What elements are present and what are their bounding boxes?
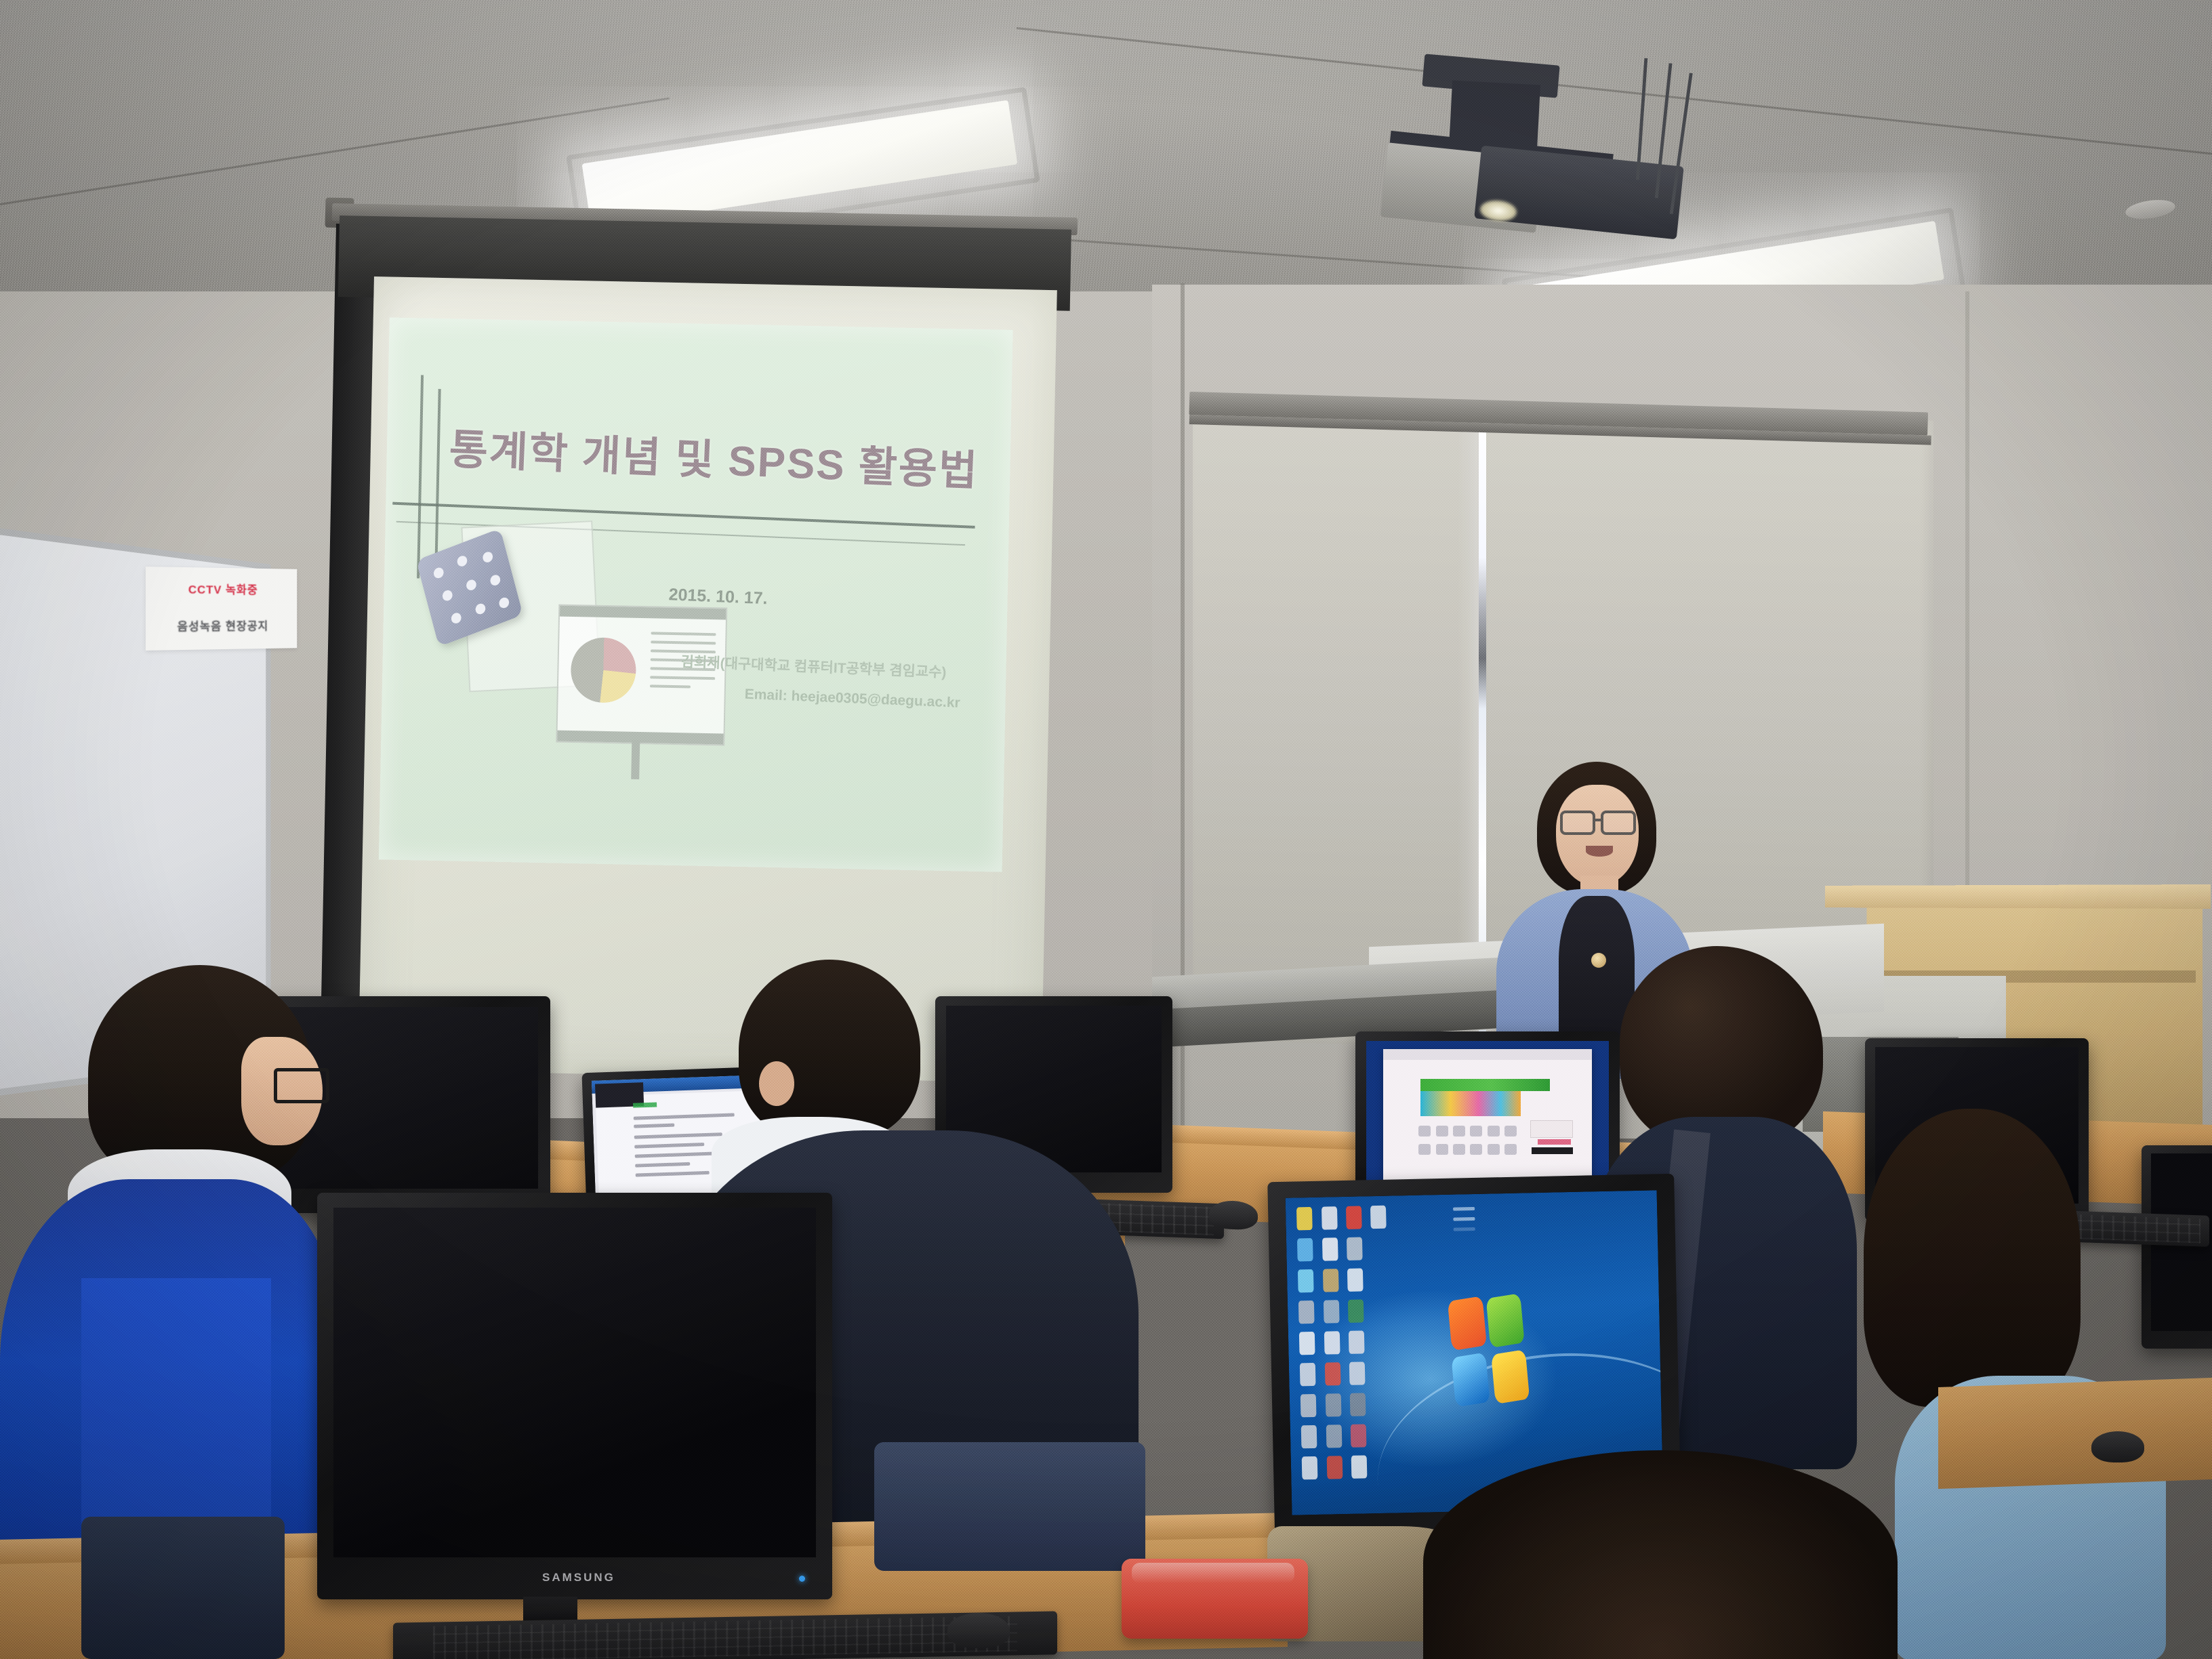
classroom-photo: 통계학 개념 및 SPSS 활용법 <box>0 0 2212 1659</box>
instructor-pendant-necklace <box>1591 953 1606 968</box>
samsung-logo: SAMSUNG <box>542 1571 615 1584</box>
podium-top-surface <box>1825 884 2211 909</box>
portal-topbar <box>1383 1049 1592 1060</box>
web-portal-page <box>1366 1041 1609 1197</box>
slide-art-chart-board <box>556 605 727 746</box>
keyboard-right[interactable] <box>2060 1210 2209 1247</box>
monitor-screen-webportal[interactable] <box>1366 1041 1609 1197</box>
keyboard-keys <box>2069 1214 2200 1244</box>
slide-art-stand <box>631 740 640 779</box>
slide-decor-bar <box>417 375 424 578</box>
mouse-right[interactable] <box>2091 1431 2144 1462</box>
portal-icon-grid <box>1418 1126 1517 1163</box>
student-foreground-hair <box>1423 1450 1898 1659</box>
monitor-edge-right[interactable] <box>2142 1145 2212 1349</box>
portal-dark-banner <box>1532 1147 1574 1154</box>
cctv-notice-line1: CCTV 녹화중 <box>159 579 284 598</box>
monitor-front-left[interactable]: SAMSUNG <box>317 1193 832 1599</box>
slide-date: 2015. 10. 17. <box>668 585 768 609</box>
chair-back <box>874 1442 1145 1571</box>
slide-title: 통계학 개념 및 SPSS 활용법 <box>448 415 980 497</box>
monitor-screen-off[interactable] <box>333 1208 816 1557</box>
student-center-ear <box>759 1061 794 1106</box>
portal-sidebar-box <box>1530 1120 1574 1138</box>
instructor-mouth <box>1586 846 1613 857</box>
desk-front-right <box>1938 1378 2212 1489</box>
portal-window <box>1383 1049 1592 1186</box>
chair-left <box>81 1517 285 1659</box>
instructor-glasses-left <box>1560 811 1595 835</box>
student-center-hair <box>739 960 920 1141</box>
student-far-right-hair <box>1864 1109 2081 1407</box>
slide-email: Email: heejae0305@daegu.ac.kr <box>744 687 960 712</box>
pie-chart-icon <box>570 637 636 703</box>
desktop-icon-grid[interactable] <box>1296 1206 1391 1488</box>
presentation-slide: 통계학 개념 및 SPSS 활용법 <box>379 317 1013 872</box>
browser-accent-green <box>633 1103 657 1108</box>
power-led-icon <box>799 1576 805 1582</box>
portal-green-navbar <box>1420 1079 1550 1091</box>
pencil-case-highlight <box>1132 1563 1294 1583</box>
portal-hero-banner <box>1420 1091 1521 1115</box>
instructor-face <box>1556 785 1639 886</box>
windows-logo-icon <box>1448 1290 1531 1409</box>
mouse-front-left[interactable] <box>947 1613 1010 1648</box>
portal-red-accent <box>1538 1139 1571 1145</box>
projection-screen: 통계학 개념 및 SPSS 활용법 <box>359 276 1057 1083</box>
desktop-text-marks <box>1453 1207 1476 1238</box>
student-left-glasses <box>274 1068 329 1103</box>
instructor-glasses-right <box>1601 811 1636 835</box>
keyboard-keys <box>433 1616 1017 1659</box>
instructor-glasses-bridge <box>1593 819 1603 821</box>
cctv-notice-sign: CCTV 녹화중 음성녹음 현장공지 <box>146 567 297 651</box>
cctv-notice-line2: 음성녹음 현장공지 <box>159 617 284 634</box>
